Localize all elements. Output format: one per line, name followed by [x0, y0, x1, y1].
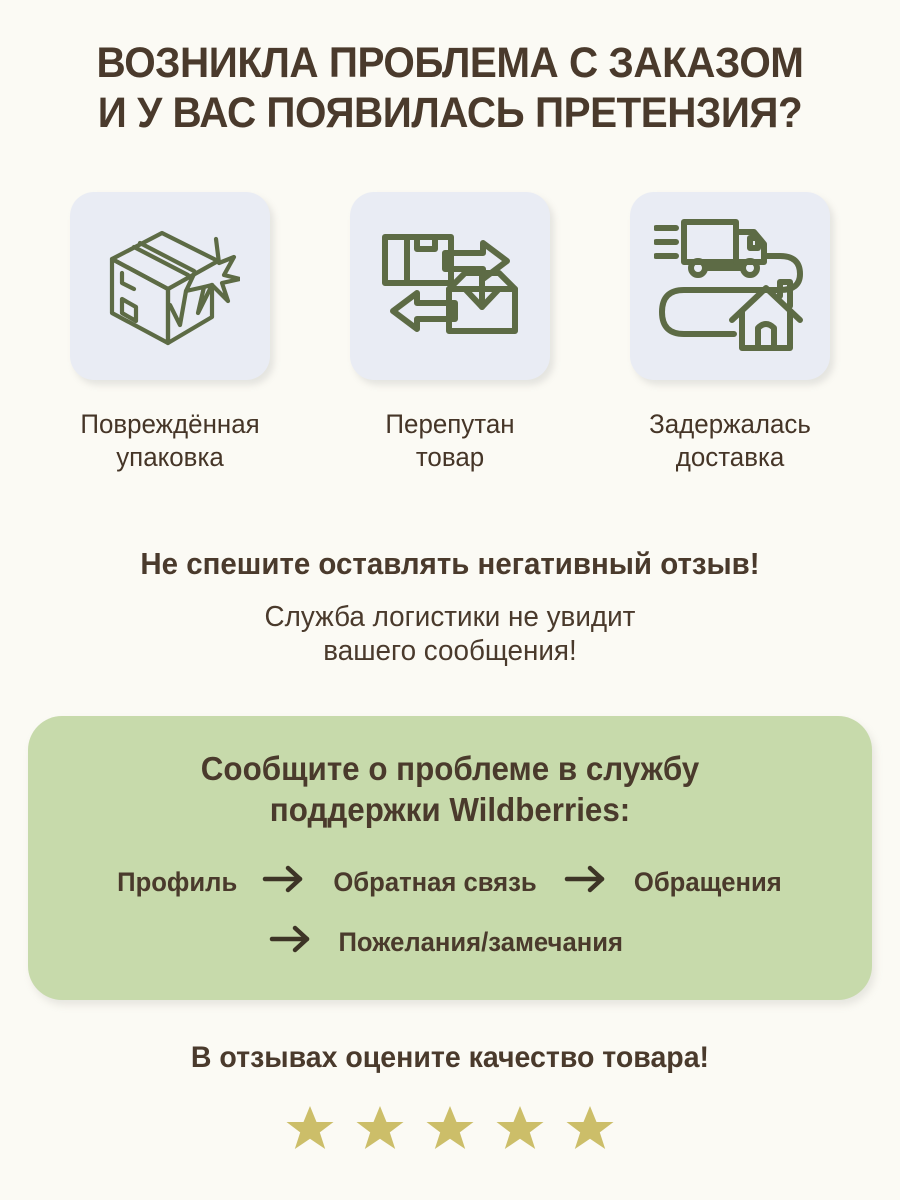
arrow-right-icon: [262, 864, 306, 899]
caption-damaged-packaging: Повреждённая упаковка: [45, 408, 295, 488]
arrow-right-icon: [269, 924, 313, 959]
arrow-right-icon: [564, 864, 608, 899]
page-title: Возникла проблема с заказом и у вас появ…: [27, 38, 873, 138]
star-icon[interactable]: [285, 1104, 335, 1157]
panel-title-line-2: поддержки Wildberries:: [49, 789, 851, 830]
card-damaged-packaging: [70, 192, 270, 380]
card-captions: Повреждённая упаковка Перепутан товар За…: [40, 408, 860, 488]
navigation-path-row-2: Пожелания/замечания: [28, 924, 872, 959]
problem-cards: [70, 192, 830, 382]
star-icon[interactable]: [425, 1104, 475, 1157]
caption-line-1: Перепутан: [325, 408, 575, 441]
damaged-box-icon: [100, 217, 240, 355]
caption-wrong-item: Перепутан товар: [325, 408, 575, 488]
warning-subtext-line-2: вашего сообщения!: [18, 634, 882, 668]
path-step-feedback[interactable]: Обратная связь: [334, 866, 537, 898]
warning-subtext-line-1: Служба логистики не увидит: [18, 600, 882, 634]
caption-line-2: доставка: [605, 441, 855, 474]
headline-line-2: и у вас появилась претензия?: [27, 88, 873, 138]
caption-line-2: товар: [325, 441, 575, 474]
warning-headline: Не спешите оставлять негативный отзыв!: [23, 545, 878, 583]
star-icon[interactable]: [355, 1104, 405, 1157]
support-instructions-panel: Сообщите о проблеме в службу поддержки W…: [28, 716, 872, 1000]
rating-call-to-action: В отзывах оцените качество товара!: [23, 1040, 878, 1076]
path-step-profile[interactable]: Профиль: [117, 866, 237, 898]
caption-delayed-delivery: Задержалась доставка: [605, 408, 855, 488]
delayed-delivery-icon: [654, 216, 806, 356]
swapped-goods-icon: [379, 221, 521, 351]
panel-title: Сообщите о проблеме в службу поддержки W…: [49, 748, 851, 830]
warning-subtext: Служба логистики не увидит вашего сообще…: [18, 600, 882, 668]
caption-line-1: Задержалась: [605, 408, 855, 441]
headline-line-1: Возникла проблема с заказом: [96, 39, 803, 87]
card-wrong-item: [350, 192, 550, 380]
star-icon[interactable]: [495, 1104, 545, 1157]
panel-title-line-1: Сообщите о проблеме в службу: [49, 748, 851, 789]
star-rating[interactable]: [0, 1104, 900, 1157]
navigation-path-row-1: Профиль Обратная связь Обращения: [28, 864, 872, 899]
path-step-suggestions[interactable]: Пожелания/замечания: [339, 926, 623, 958]
card-delayed-delivery: [630, 192, 830, 380]
star-icon[interactable]: [565, 1104, 615, 1157]
caption-line-1: Повреждённая: [45, 408, 295, 441]
caption-line-2: упаковка: [45, 441, 295, 474]
path-step-requests[interactable]: Обращения: [634, 866, 782, 898]
promo-card: Возникла проблема с заказом и у вас появ…: [0, 0, 900, 1200]
